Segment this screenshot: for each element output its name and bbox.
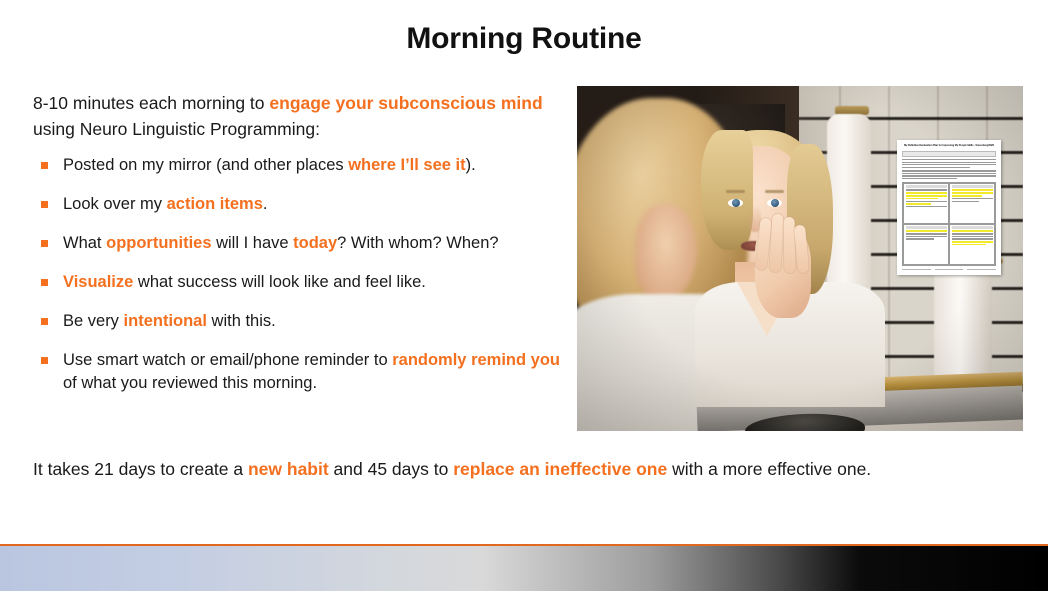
lead-text-pre: 8-10 minutes each morning to [33, 93, 269, 113]
list-item: Look over my action items. [33, 193, 563, 216]
bullet-highlight: action items [167, 195, 263, 213]
declaration-plan-document: My Definitive Declaration Plan for Impro… [897, 140, 1001, 275]
bullet-text-pre: Be very [63, 312, 124, 330]
bullet-square-icon [41, 201, 48, 208]
bullet-square-icon [41, 162, 48, 169]
document-cell [903, 224, 949, 265]
content-column: 8-10 minutes each morning to engage your… [33, 90, 563, 411]
bullet-text-post: ? With whom? When? [337, 234, 498, 252]
eyebrow-right [765, 190, 784, 193]
bullet-highlight: randomly remind you [392, 351, 560, 369]
bullet-highlight: where I’ll see it [348, 156, 465, 174]
bullet-text-post: what success will look like and feel lik… [133, 273, 426, 291]
eyebrow-left [726, 190, 745, 193]
bullet-text-post: of what you reviewed this morning. [63, 374, 317, 392]
document-paragraph [902, 170, 996, 179]
list-item: What opportunities will I have today? Wi… [33, 232, 563, 255]
bullet-text-mid: will I have [212, 234, 294, 252]
list-item: Posted on my mirror (and other places wh… [33, 154, 563, 177]
page-title: Morning Routine [0, 22, 1048, 56]
conclusion-highlight-2: replace an ineffective one [453, 459, 667, 479]
conclusion-post: with a more effective one. [667, 459, 871, 479]
bullet-square-icon [41, 357, 48, 364]
document-cell [949, 183, 995, 224]
bullet-highlight-2: today [293, 234, 337, 252]
document-paragraph [902, 159, 996, 168]
bullet-text-pre: What [63, 234, 106, 252]
document-cell [949, 224, 995, 265]
bullet-highlight: opportunities [106, 234, 211, 252]
lead-highlight: engage your subconscious mind [269, 93, 542, 113]
bullet-square-icon [41, 279, 48, 286]
bullet-text-pre: Use smart watch or email/phone reminder … [63, 351, 392, 369]
document-footer [902, 269, 996, 270]
finger [784, 217, 796, 273]
bullet-text-post: . [263, 195, 268, 213]
document-title: My Definitive Declaration Plan for Impro… [902, 144, 996, 148]
bullet-highlight: Visualize [63, 273, 133, 291]
bullet-list: Posted on my mirror (and other places wh… [33, 154, 563, 395]
slide-canvas: Morning Routine [0, 0, 1048, 591]
bullet-text-post: ). [466, 156, 476, 174]
document-quadrant-grid [902, 182, 996, 266]
conclusion-pre: It takes 21 days to create a [33, 459, 248, 479]
list-item: Use smart watch or email/phone reminder … [33, 349, 563, 395]
lead-text-post: using Neuro Linguistic Programming: [33, 119, 320, 139]
bullet-text-post: with this. [207, 312, 276, 330]
bullet-text-pre: Posted on my mirror (and other places [63, 156, 348, 174]
list-item: Be very intentional with this. [33, 310, 563, 333]
list-item: Visualize what success will look like an… [33, 271, 563, 294]
hanging-towel [827, 114, 871, 294]
document-header-band [902, 151, 996, 157]
bullet-square-icon [41, 318, 48, 325]
conclusion-line: It takes 21 days to create a new habit a… [33, 456, 1023, 482]
bullet-highlight: intentional [124, 312, 207, 330]
bullet-square-icon [41, 240, 48, 247]
document-cell [903, 183, 949, 224]
eye-right [767, 199, 782, 207]
lead-paragraph: 8-10 minutes each morning to engage your… [33, 90, 563, 142]
bullet-text-pre: Look over my [63, 195, 167, 213]
conclusion-mid: and 45 days to [329, 459, 454, 479]
slide-footer: Copyright© 2015-2023 by Boyer Management… [0, 546, 1048, 591]
eye-left [728, 199, 743, 207]
conclusion-highlight: new habit [248, 459, 329, 479]
